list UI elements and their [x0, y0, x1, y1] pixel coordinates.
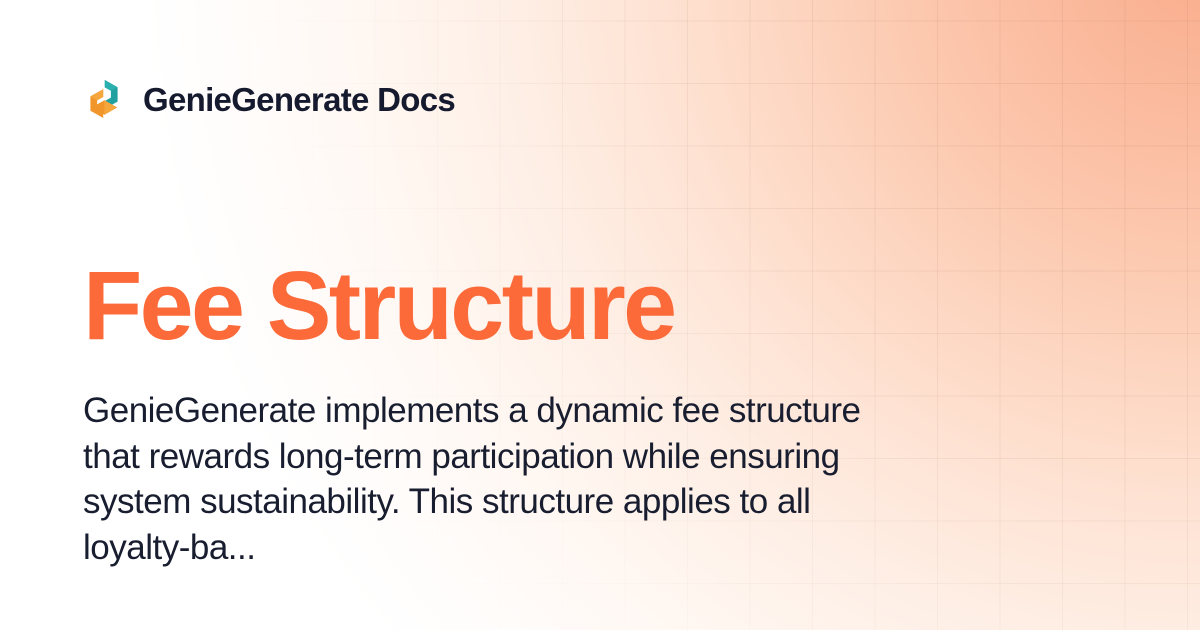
- card-content: GenieGenerate Docs Fee Structure GenieGe…: [0, 0, 1200, 630]
- page-description: GenieGenerate implements a dynamic fee s…: [83, 388, 883, 570]
- genie-cube-logo-icon: [83, 78, 125, 120]
- brand-lockup: GenieGenerate Docs: [83, 78, 455, 120]
- og-card: GenieGenerate Docs Fee Structure GenieGe…: [0, 0, 1200, 630]
- brand-name: GenieGenerate Docs: [143, 83, 455, 116]
- page-title: Fee Structure: [83, 255, 675, 357]
